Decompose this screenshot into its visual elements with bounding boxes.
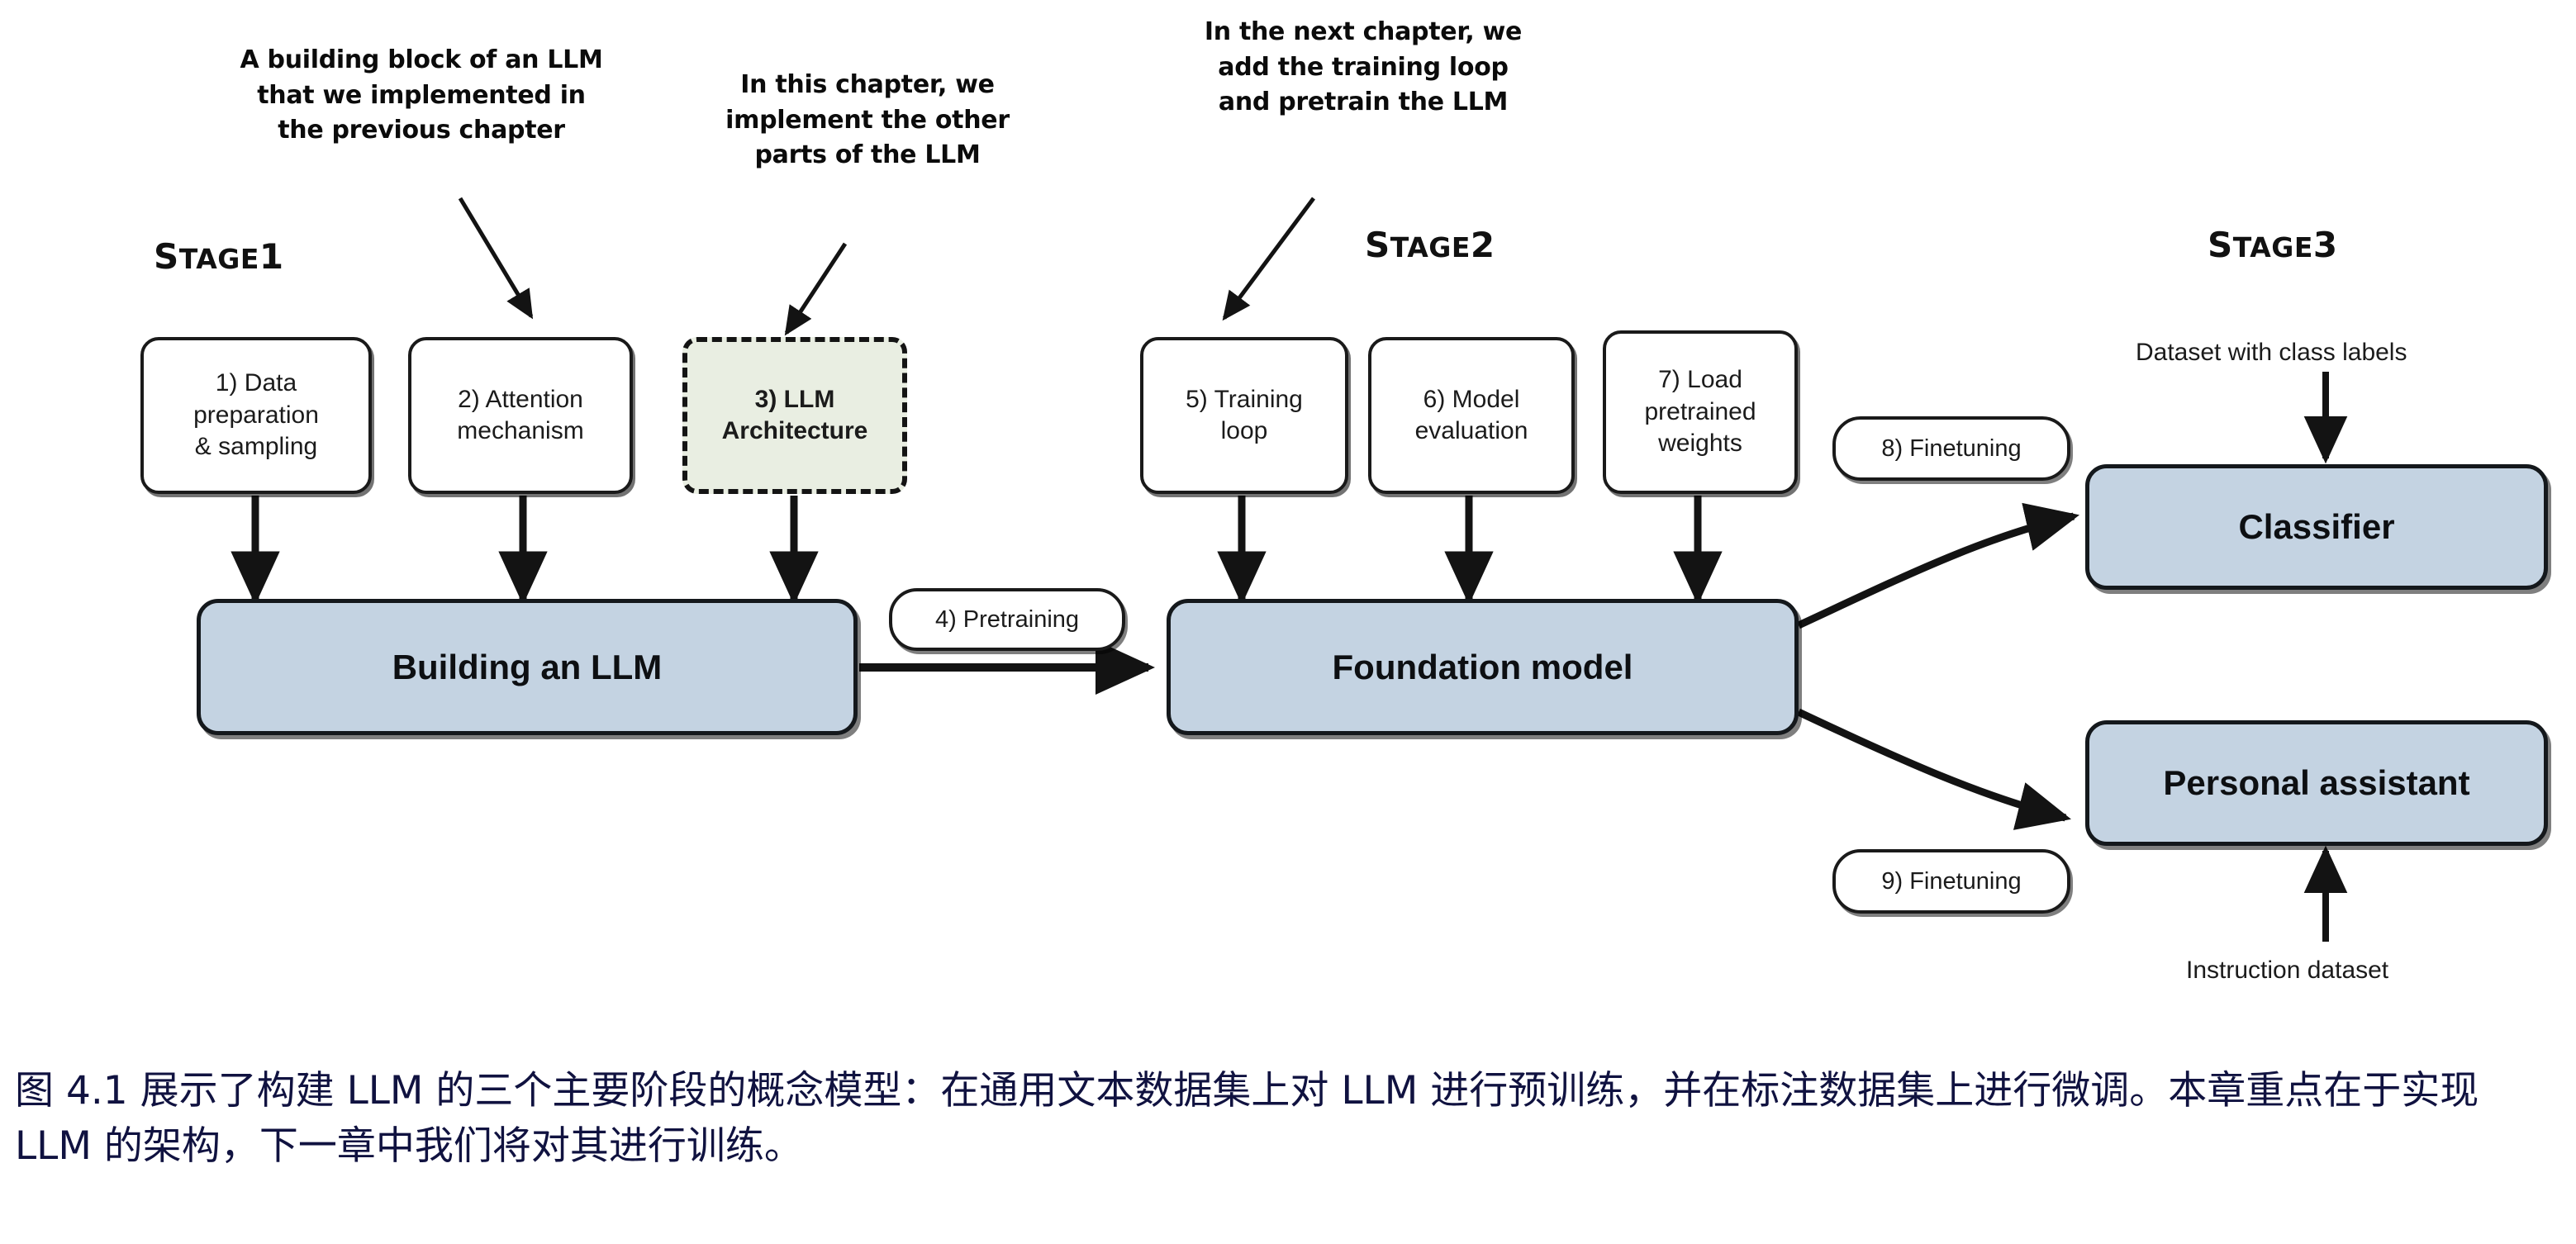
step-box-data-preparation[interactable]: 1) Data preparation & sampling (140, 337, 372, 494)
annot-building-block: A building block of an LLM that we imple… (190, 43, 653, 149)
pill-finetuning-9[interactable]: 9) Finetuning (1832, 849, 2070, 914)
stage-1-label: STAGE1 (154, 236, 284, 277)
step-box-attention-mechanism[interactable]: 2) Attention mechanism (408, 337, 633, 494)
connector-foundation-to-assistant (1799, 712, 2065, 818)
stage-1-rest: TAGE (179, 243, 259, 275)
stage-2-prefix: S (1365, 225, 1390, 265)
figure-caption: 图 4.1 展示了构建 LLM 的三个主要阶段的概念模型：在通用文本数据集上对 … (15, 1064, 2568, 1174)
box-foundation-model[interactable]: Foundation model (1167, 599, 1799, 735)
step-box-load-pretrained-weights[interactable]: 7) Load pretrained weights (1603, 330, 1798, 494)
step-box-llm-architecture[interactable]: 3) LLM Architecture (682, 337, 907, 494)
stage-2-rest: TAGE (1390, 231, 1471, 264)
annotation-arrow-to-attention (460, 198, 531, 316)
box-building-an-llm[interactable]: Building an LLM (197, 599, 858, 735)
connector-foundation-to-classifier (1799, 516, 2074, 625)
stage-3-rest: TAGE (2233, 231, 2313, 264)
step-box-model-evaluation[interactable]: 6) Model evaluation (1368, 337, 1575, 494)
label-instruction-dataset: Instruction dataset (2186, 957, 2388, 985)
box-classifier[interactable]: Classifier (2085, 464, 2548, 590)
stage-2-number: 2 (1471, 225, 1495, 265)
annot-this-chapter: In this chapter, we implement the other … (686, 68, 1049, 173)
stage-3-number: 3 (2313, 225, 2338, 265)
stage-1-prefix: S (154, 236, 179, 277)
annot-next-chapter: In the next chapter, we add the training… (1173, 15, 1553, 121)
box-personal-assistant[interactable]: Personal assistant (2085, 720, 2548, 846)
stage-3-prefix: S (2208, 225, 2233, 265)
stage-2-label: STAGE2 (1365, 225, 1495, 265)
label-dataset-with-class-labels: Dataset with class labels (2136, 339, 2407, 367)
figure-canvas: A building block of an LLM that we imple… (0, 0, 2576, 1244)
pill-finetuning-8[interactable]: 8) Finetuning (1832, 416, 2070, 481)
step-box-training-loop[interactable]: 5) Training loop (1140, 337, 1348, 494)
stage-3-label: STAGE3 (2208, 225, 2338, 265)
pill-pretraining[interactable]: 4) Pretraining (889, 588, 1125, 651)
stage-1-number: 1 (259, 236, 284, 277)
annotation-arrow-to-training-loop (1224, 198, 1314, 318)
annotation-arrow-to-llm-architecture (787, 244, 845, 333)
